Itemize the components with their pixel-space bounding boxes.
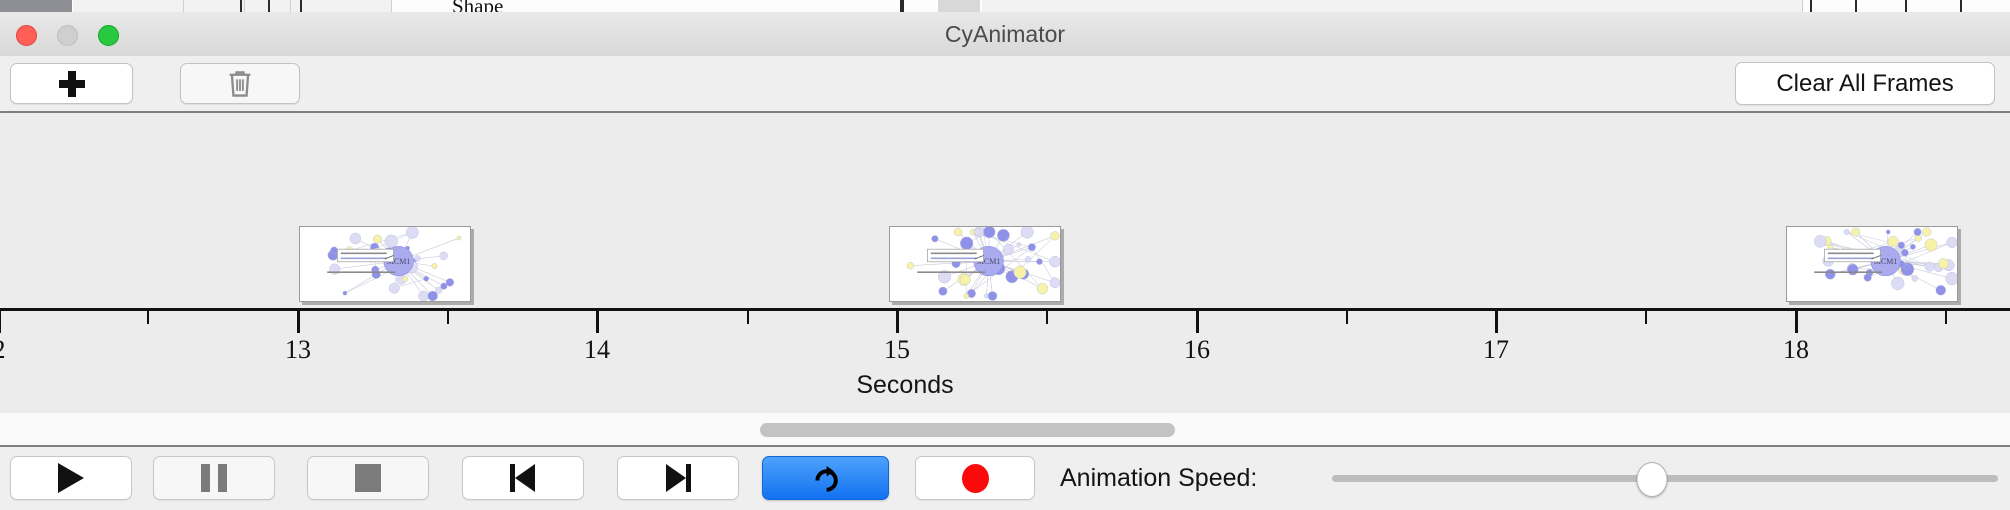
frame-toolbar: Clear All Frames [0,56,2010,113]
record-button[interactable] [915,456,1035,500]
timeline-tick-major [896,311,899,333]
animation-speed-label: Animation Speed: [1060,456,1257,500]
delete-frame-button[interactable] [180,63,300,104]
timeline-tick-label: 14 [584,335,610,365]
timeline-tick-minor [1046,311,1048,324]
pause-button[interactable] [153,456,275,500]
timeline-tick-minor [447,311,449,324]
timeline-frame-thumbnail[interactable]: MCM1 [889,226,1061,302]
timeline-tick-minor [1945,311,1947,324]
loop-icon [811,462,841,494]
timeline-tick-label: 18 [1783,335,1809,365]
timeline-tick-label: 16 [1184,335,1210,365]
timeline-frame-thumbnail[interactable]: MCM1 [1786,226,1958,302]
window-title: CyAnimator [0,12,2010,56]
timeline-scrollbar-thumb[interactable] [760,423,1175,437]
stop-icon [355,464,381,492]
plus-icon [59,71,85,97]
timeline-tick-major [1795,311,1798,333]
play-button[interactable] [10,456,132,500]
timeline-tick-minor [147,311,149,324]
stop-button[interactable] [307,456,429,500]
timeline-tick-major [297,311,300,333]
title-bar: CyAnimator [0,12,2010,57]
background-window-sidebar [0,0,72,12]
timeline-ruler-line [0,308,2010,311]
timeline-tick-major [1495,311,1498,333]
timeline-panel[interactable]: MCM1MCM1MCM1 2131415161718 Seconds [0,113,2010,413]
next-frame-button[interactable] [617,456,739,500]
timeline-scrollbar[interactable] [0,413,2010,447]
animation-speed-slider[interactable] [1332,456,1998,500]
loop-button[interactable] [762,456,889,500]
skip-end-icon [665,464,691,492]
timeline-axis-title: Seconds [0,371,2010,400]
timeline-tick-minor [747,311,749,324]
clear-all-frames-button[interactable]: Clear All Frames [1735,62,1995,105]
timeline-tick-minor [1645,311,1647,324]
timeline-tick-minor [1346,311,1348,324]
timeline-frame-thumbnail[interactable]: MCM1 [299,226,471,302]
timeline-tick-label: 13 [285,335,311,365]
trash-icon [226,69,254,99]
pause-icon [201,464,227,492]
add-frame-button[interactable] [10,63,133,104]
background-window-strip: Shape [0,0,2010,12]
animation-speed-slider-knob[interactable] [1636,462,1667,497]
cyanimator-window: Shape CyAnimator Clear [0,0,2010,510]
record-icon [962,464,989,493]
timeline-tick-label: 2 [0,335,6,365]
prev-frame-button[interactable] [462,456,584,500]
player-controls-bar: Animation Speed: [0,447,2010,510]
clear-all-frames-label: Clear All Frames [1776,70,1953,98]
skip-start-icon [510,464,536,492]
timeline-tick-major [0,311,1,333]
timeline-tick-label: 17 [1483,335,1509,365]
timeline-tick-major [1196,311,1199,333]
timeline-tick-major [596,311,599,333]
timeline-tick-label: 15 [884,335,910,365]
play-icon [58,463,84,493]
background-window-partial-label: Shape [452,0,503,12]
